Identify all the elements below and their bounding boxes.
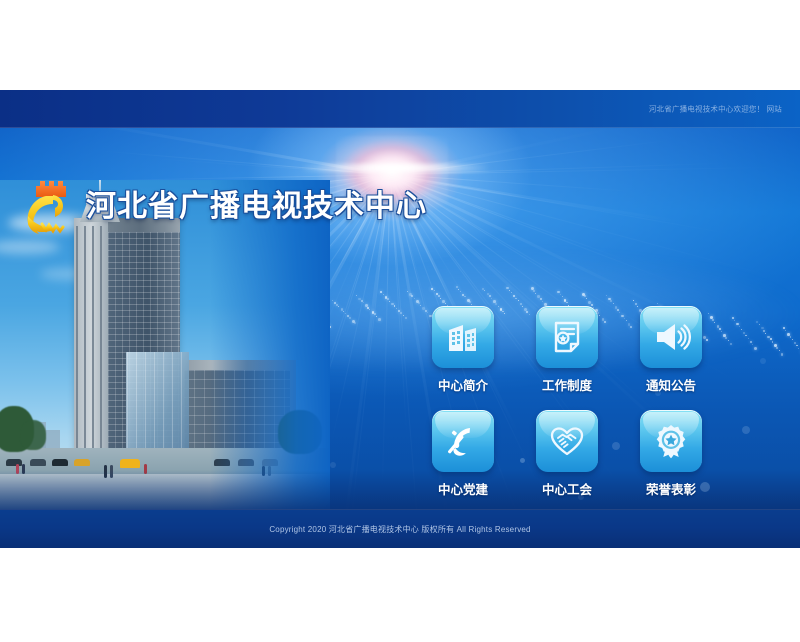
- bokeh-dot: [742, 426, 750, 434]
- site-container: 河北省广播电视技术中心欢迎您！ 网站: [0, 90, 800, 548]
- pedestrian: [104, 465, 107, 478]
- tile-background: [536, 306, 598, 368]
- nav-item-label: 通知公告: [646, 375, 696, 394]
- nav-item-honors[interactable]: 荣誉表彰: [636, 410, 706, 498]
- tile-background: [640, 410, 702, 472]
- tile-background: [640, 306, 702, 368]
- nav-item-party-building[interactable]: 中心党建: [428, 410, 498, 498]
- bokeh-dot: [330, 462, 336, 468]
- tile-background: [432, 410, 494, 472]
- parked-car: [214, 459, 230, 466]
- site-footer: Copyright 2020 河北省广播电视技术中心 版权所有 All Righ…: [0, 509, 800, 548]
- nav-item-labor-union[interactable]: 中心工会: [532, 410, 602, 498]
- nav-item-work-system[interactable]: 工作制度: [532, 306, 602, 394]
- pedestrian: [22, 464, 25, 474]
- welcome-text: 河北省广播电视技术中心欢迎您！ 网站: [649, 104, 782, 115]
- nav-item-label: 中心党建: [438, 479, 488, 498]
- pedestrian: [268, 466, 271, 476]
- building-icon: [443, 317, 483, 357]
- site-brand[interactable]: 河北省广播电视技术中心: [22, 172, 427, 234]
- nav-item-label: 中心简介: [438, 375, 488, 394]
- tree: [278, 410, 322, 454]
- handshake-heart-icon: [547, 421, 587, 461]
- parked-car: [52, 459, 68, 466]
- tile-background: [536, 410, 598, 472]
- tree: [20, 420, 46, 450]
- pedestrian: [110, 465, 113, 478]
- megaphone-icon: [651, 317, 691, 357]
- pedestrian: [16, 464, 19, 474]
- nav-item-label: 荣誉表彰: [646, 479, 696, 498]
- nav-item-center-intro[interactable]: 中心简介: [428, 306, 498, 394]
- parked-car: [74, 459, 90, 466]
- nav-item-label: 中心工会: [542, 479, 592, 498]
- tower-fins: [76, 226, 106, 452]
- document-star-icon: [547, 317, 587, 357]
- copyright-text: Copyright 2020 河北省广播电视技术中心 版权所有 All Righ…: [269, 524, 530, 535]
- nav-item-label: 工作制度: [542, 375, 592, 394]
- page-title: 河北省广播电视技术中心: [86, 181, 427, 225]
- top-welcome-bar: 河北省广播电视技术中心欢迎您！ 网站: [0, 90, 800, 128]
- hero-banner: 河北省广播电视技术中心: [0, 128, 800, 510]
- pedestrian: [144, 464, 147, 474]
- parked-car: [262, 459, 278, 466]
- photo-plaza: [0, 474, 330, 510]
- award-medal-icon: [651, 421, 691, 461]
- page-root: 河北省广播电视技术中心欢迎您！ 网站: [0, 0, 800, 642]
- parked-car: [6, 459, 22, 466]
- great-wall-ribbon-emblem-icon: [22, 172, 78, 234]
- pedestrian: [262, 466, 265, 476]
- bokeh-dot: [760, 358, 766, 364]
- parked-car: [30, 459, 46, 466]
- hammer-sickle-icon: [443, 421, 483, 461]
- parked-car: [238, 459, 254, 466]
- nav-item-announcements[interactable]: 通知公告: [636, 306, 706, 394]
- sun-glow-streak: [300, 164, 490, 172]
- taxi-car: [120, 459, 140, 468]
- quick-nav-grid: 中心简介 工作制度: [428, 306, 718, 498]
- tile-background: [432, 306, 494, 368]
